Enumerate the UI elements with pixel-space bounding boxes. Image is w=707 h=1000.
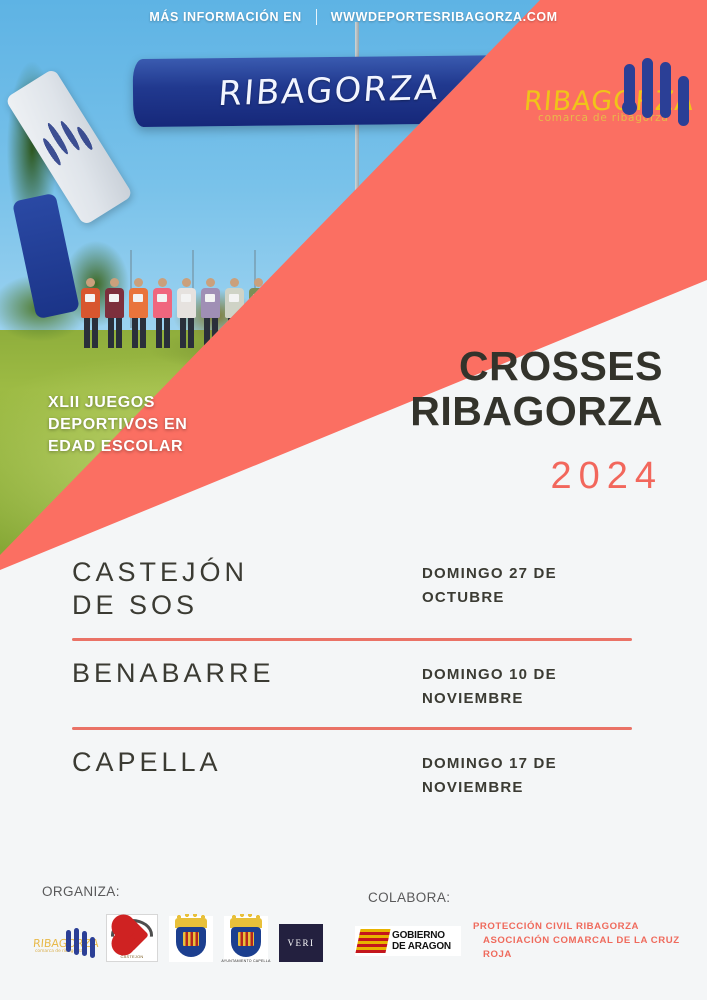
event-place-line-1: CAPELLA — [72, 746, 422, 779]
top-info-bar: MÁS INFORMACIÓN EN WWWDEPORTESRIBAGORZA.… — [0, 6, 707, 28]
event-place: BENABARRE — [72, 657, 422, 690]
crest-caption: CASTEJON — [107, 954, 157, 959]
colabora-partner-text: PROTECCIÓN CIVIL RIBAGORZA ASOCIACIÓN CO… — [473, 920, 707, 962]
heraldic-bars-icon — [183, 932, 199, 946]
games-line-2: DEPORTIVOS EN — [48, 414, 187, 436]
event-place: CAPELLA — [72, 746, 422, 779]
gobierno-aragon-text: GOBIERNO DE ARAGON — [392, 930, 451, 952]
page-title: CROSSES RIBAGORZA — [410, 344, 663, 434]
gobierno-de-aragon-logo: GOBIERNO DE ARAGON — [355, 926, 461, 956]
gobierno-line-1: GOBIERNO — [392, 930, 451, 941]
year-label: 2024 — [550, 455, 663, 498]
gobierno-line-2: DE ARAGON — [392, 941, 451, 952]
website-link[interactable]: WWWDEPORTESRIBAGORZA.COM — [331, 10, 558, 24]
poster-canvas: RIBAGORZA — [0, 0, 707, 1000]
event-date-line-1: DOMINGO 17 DE — [422, 752, 652, 776]
list-item: CAPELLA DOMINGO 17 DE NOVIEMBRE — [0, 746, 707, 800]
event-date-line-2: OCTUBRE — [422, 586, 652, 610]
event-date-line-1: DOMINGO 27 DE — [422, 562, 652, 586]
event-date-line-1: DOMINGO 10 DE — [422, 663, 652, 687]
event-date: DOMINGO 10 DE NOVIEMBRE — [422, 657, 652, 711]
more-info-label: MÁS INFORMACIÓN EN — [149, 10, 301, 24]
comarca-stroke-icon — [74, 928, 79, 955]
comarca-ribagorza-logo: RIBAGORZA comarca de ribagorza — [33, 928, 95, 962]
games-overlay-text: XLII JUEGOS DEPORTIVOS EN EDAD ESCOLAR — [48, 392, 187, 458]
colabora-logos: GOBIERNO DE ARAGON PROTECCIÓN CIVIL RIBA… — [355, 920, 707, 962]
games-line-1: XLII JUEGOS — [48, 392, 187, 414]
heraldic-bars-icon — [238, 932, 254, 946]
comarca-stroke-icon — [660, 62, 671, 118]
aragon-flag-icon — [355, 929, 390, 953]
event-date-line-2: NOVIEMBRE — [422, 687, 652, 711]
comarca-ribagorza-logo: RIBAGORZA comarca de ribagorza — [520, 62, 700, 152]
comarca-stroke-icon — [642, 58, 653, 118]
benabarre-crest — [169, 916, 213, 962]
veri-logo: VERI — [279, 924, 323, 962]
divider — [72, 727, 632, 730]
event-place: CASTEJÓN DE SOS — [72, 556, 422, 622]
shield-icon — [231, 927, 261, 957]
shield-icon — [176, 927, 206, 957]
colabora-label: COLABORA: — [368, 890, 450, 905]
list-item: CASTEJÓN DE SOS DOMINGO 27 DE OCTUBRE — [0, 556, 707, 622]
footer: ORGANIZA: COLABORA: RIBAGORZA comarca de… — [0, 878, 707, 988]
divider — [72, 638, 632, 641]
comarca-stroke-icon — [90, 937, 95, 958]
ayuntamiento-capella-crest: AYUNTAMIENTO CAPELLA — [224, 916, 268, 962]
list-item: BENABARRE DOMINGO 10 DE NOVIEMBRE — [0, 657, 707, 711]
event-date-line-2: NOVIEMBRE — [422, 776, 652, 800]
event-place-line-2: DE SOS — [72, 589, 422, 622]
comarca-stroke-icon — [66, 930, 71, 952]
event-place-line-1: CASTEJÓN — [72, 556, 422, 589]
colabora-text-line-2: ASOCIACIÓN COMARCAL DE LA CRUZ ROJA — [473, 934, 707, 962]
games-line-3: EDAD ESCOLAR — [48, 436, 187, 458]
event-date: DOMINGO 27 DE OCTUBRE — [422, 556, 652, 610]
crest-caption: AYUNTAMIENTO CAPELLA — [218, 959, 274, 963]
castejon-de-sos-crest: CASTEJON — [106, 914, 158, 962]
topbar-divider — [316, 9, 317, 25]
title-line-1: CROSSES — [410, 344, 663, 389]
events-list: CASTEJÓN DE SOS DOMINGO 27 DE OCTUBRE BE… — [0, 556, 707, 800]
title-line-2: RIBAGORZA — [410, 389, 663, 434]
colabora-text-line-1: PROTECCIÓN CIVIL RIBAGORZA — [473, 920, 707, 934]
comarca-stroke-icon — [678, 76, 689, 126]
comarca-stroke-icon — [624, 64, 635, 112]
organiza-label: ORGANIZA: — [42, 884, 120, 899]
event-date: DOMINGO 17 DE NOVIEMBRE — [422, 746, 652, 800]
event-place-line-1: BENABARRE — [72, 657, 422, 690]
organiza-logos: RIBAGORZA comarca de ribagorza CASTEJON … — [33, 914, 323, 962]
comarca-stroke-icon — [82, 931, 87, 956]
